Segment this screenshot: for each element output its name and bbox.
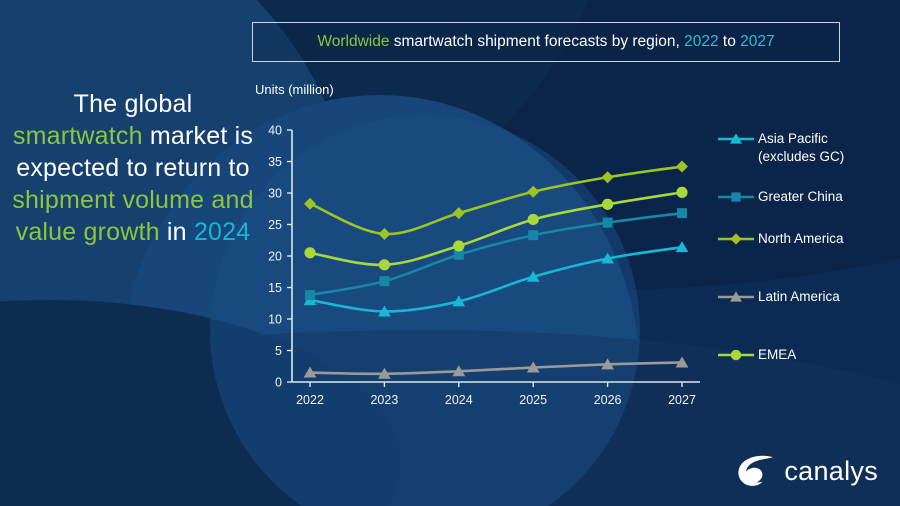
data-point-marker [528,230,538,240]
data-point-marker [602,199,613,210]
legend-item-latin-america[interactable]: Latin America [716,288,840,306]
data-point-marker [677,208,687,218]
slide-canvas: The global smartwatch market is expected… [0,0,900,506]
text-segment-3: to [719,33,741,50]
data-point-marker [304,247,315,258]
y-tick-label: 25 [268,218,282,232]
data-point-marker [379,276,389,286]
canalys-swoosh-icon [737,454,775,488]
data-point-marker [528,214,539,225]
y-tick-label: 10 [268,313,282,327]
square-legend-icon [716,188,756,206]
text-segment-5: 2024 [194,218,250,246]
triangle-legend-icon [716,130,756,148]
x-tick-label: 2022 [296,393,324,407]
data-point-marker [305,290,315,300]
circle-legend-icon [716,346,756,364]
data-point-marker [453,207,465,219]
x-tick-label: 2026 [594,393,622,407]
x-tick-label: 2025 [519,393,547,407]
series-3 [304,356,689,378]
x-tick-label: 2027 [668,393,696,407]
triangle-legend-icon [716,288,756,306]
legend-item-north-america[interactable]: North America [716,230,844,248]
y-tick-label: 0 [275,376,282,390]
chart-series-group [304,161,689,379]
y-axis-ticks: 0510152025303540 [268,124,292,390]
text-segment-0: Worldwide [317,33,393,50]
logo-wordmark: canalys [784,456,878,487]
legend-item-emea[interactable]: EMEA [716,346,796,364]
series-line [310,362,682,373]
legend-label: EMEA [758,346,796,364]
text-segment-1: smartwatch [13,122,150,150]
data-point-marker [602,171,614,183]
data-point-marker [527,186,539,198]
x-tick-label: 2024 [445,393,473,407]
data-point-marker [453,240,464,251]
text-segment-4: 2027 [740,33,774,50]
x-tick-label: 2023 [370,393,398,407]
chart-title: Worldwide smartwatch shipment forecasts … [317,33,774,51]
text-segment-4: in [167,218,194,246]
legend-label: Asia Pacific (excludes GC) [758,130,844,166]
series-line [310,247,682,311]
chart-axes [292,130,700,382]
text-segment-2: 2022 [684,33,718,50]
legend-item-asia-pacific[interactable]: Asia Pacific (excludes GC) [716,130,844,166]
x-axis-ticks: 202220232024202520262027 [296,382,696,407]
legend-item-greater-china[interactable]: Greater China [716,188,843,206]
data-point-marker [676,187,687,198]
y-tick-label: 35 [268,155,282,169]
legend-label: Latin America [758,288,840,306]
data-point-marker [676,161,688,173]
y-axis-title: Units (million) [255,82,334,97]
series-0 [304,241,689,316]
data-point-marker [304,198,316,210]
diamond-legend-icon [716,230,756,248]
headline-text: The global smartwatch market is expected… [8,88,258,248]
chart-svg: 0510152025303540 20222023202420252026202… [252,118,712,418]
data-point-marker [378,228,390,240]
text-segment-1: smartwatch shipment forecasts by region, [394,33,684,50]
text-segment-0: The global [74,90,193,118]
y-tick-label: 30 [268,187,282,201]
data-point-marker [603,218,613,228]
y-tick-label: 15 [268,281,282,295]
y-tick-label: 5 [275,344,282,358]
y-tick-label: 40 [268,124,282,138]
canalys-logo: canalys [737,454,878,488]
line-chart: 0510152025303540 20222023202420252026202… [252,118,712,418]
legend-label: North America [758,230,844,248]
y-tick-label: 20 [268,250,282,264]
legend-label: Greater China [758,188,843,206]
chart-title-box: Worldwide smartwatch shipment forecasts … [252,22,840,62]
data-point-marker [379,259,390,270]
